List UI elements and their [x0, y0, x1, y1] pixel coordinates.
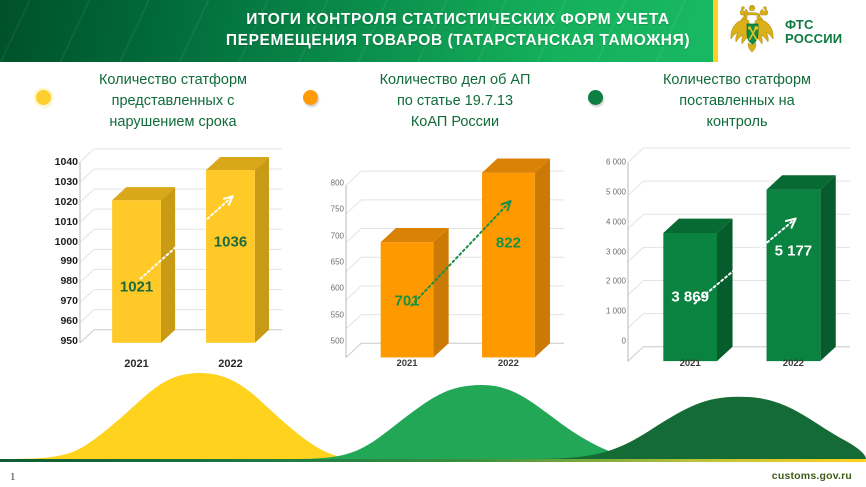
bar-2021: [381, 228, 449, 358]
bar-chart-statforms-late: 95096097098099010001010102010301040 1021…: [18, 158, 286, 386]
y-tick-label: 2 000: [606, 277, 626, 286]
bar-front: [112, 200, 161, 343]
y-tick-label: 600: [331, 284, 344, 293]
bar-chart-statforms-controlled: 01 0002 0003 0004 0005 0006 000 3 8695 1…: [582, 158, 854, 386]
grid-depth-line: [628, 247, 644, 261]
y-tick-label: 4 000: [606, 217, 626, 226]
grid-depth-line: [628, 280, 644, 294]
y-tick-label: 500: [331, 337, 344, 346]
bar-side: [161, 187, 175, 343]
grid-depth-line: [80, 269, 94, 282]
panel-title-2-line2: по статье 19.7.13: [340, 91, 570, 112]
grid-depth-line: [80, 189, 94, 202]
bar-side: [820, 175, 836, 361]
y-tick-label: 550: [331, 310, 344, 319]
grid-depth-line: [80, 249, 94, 262]
bar-front: [767, 190, 821, 361]
y-tick-label: 970: [60, 295, 78, 307]
y-tick-label: 1040: [55, 156, 78, 168]
panel-title-2-line1: Количество дел об АП: [340, 70, 570, 91]
y-tick-label: 1020: [55, 196, 78, 208]
panel-bullet-3: [588, 90, 603, 105]
grid-depth-line: [346, 286, 361, 300]
y-axis-labels-3: 01 0002 0003 0004 0005 0006 000: [582, 158, 626, 354]
wave-yellow: [0, 373, 370, 459]
y-tick-label: 0: [622, 337, 626, 346]
grid-depth-line: [346, 257, 361, 271]
grid-depth-line: [80, 169, 94, 182]
bar-2022: [482, 159, 550, 358]
bar-side: [433, 228, 448, 358]
y-tick-label: 1000: [55, 236, 78, 248]
plot-area-2: 701822: [346, 158, 564, 354]
panel-title-1-line3: нарушением срока: [58, 112, 288, 133]
bar-front: [663, 233, 717, 361]
y-tick-label: 990: [60, 255, 78, 267]
bar-front: [482, 173, 535, 358]
panel-title-1-line2: представленных с: [58, 91, 288, 112]
fts-logo: ФТС РОССИИ: [726, 4, 861, 60]
fts-logo-text: ФТС РОССИИ: [785, 18, 842, 46]
page-number: 1: [10, 471, 16, 483]
grid-depth-line: [346, 200, 361, 214]
panel-bullet-2: [303, 90, 318, 105]
panel-title-3-line3: контроль: [622, 112, 852, 133]
panel-title-3-line1: Количество статформ: [622, 70, 852, 91]
grid-depth-line: [80, 310, 94, 323]
banner-accent-stripe: [713, 0, 718, 62]
panel-title-2-line3: КоАП России: [340, 112, 570, 133]
y-tick-label: 950: [60, 335, 78, 347]
decorative-waves: [0, 367, 866, 459]
panel-title-1: Количество статформ представленных с нар…: [58, 70, 288, 133]
y-tick-label: 1010: [55, 216, 78, 228]
bar-side: [717, 219, 733, 362]
y-tick-label: 800: [331, 179, 344, 188]
panel-title-1-line1: Количество статформ: [58, 70, 288, 91]
y-tick-label: 3 000: [606, 247, 626, 256]
grid-depth-line: [628, 214, 644, 228]
grid-depth-line: [80, 209, 94, 222]
panel-bullet-1: [36, 90, 51, 105]
grid-depth-line: [346, 229, 361, 243]
y-axis-labels-2: 500550600650700750800: [300, 158, 344, 354]
bars-svg-2: [346, 158, 564, 372]
grid-depth-line: [80, 290, 94, 303]
page-title-line1: ИТОГИ КОНТРОЛЯ СТАТИСТИЧЕСКИХ ФОРМ УЧЕТА: [246, 11, 669, 28]
bar-2022: [206, 157, 269, 343]
y-tick-label: 6 000: [606, 158, 626, 167]
grid-depth-line: [628, 314, 644, 328]
bar-2022: [767, 175, 836, 361]
panel-title-3-line2: поставленных на: [622, 91, 852, 112]
footer-website: customs.gov.ru: [772, 470, 852, 482]
fts-logo-line1: ФТС: [785, 18, 842, 32]
panel-title-3: Количество статформ поставленных на конт…: [622, 70, 852, 133]
bar-side: [255, 157, 269, 343]
slide-root: ИТОГИ КОНТРОЛЯ СТАТИСТИЧЕСКИХ ФОРМ УЧЕТА…: [0, 0, 866, 487]
plot-area-3: 3 8695 177: [628, 158, 850, 354]
y-tick-label: 1 000: [606, 307, 626, 316]
plot-area-1: 10211036: [80, 158, 282, 354]
y-tick-label: 1030: [55, 176, 78, 188]
y-axis-labels-1: 95096097098099010001010102010301040: [26, 158, 78, 354]
y-tick-label: 5 000: [606, 187, 626, 196]
grid-depth-line: [346, 315, 361, 329]
y-tick-label: 750: [331, 205, 344, 214]
bar-side: [535, 159, 550, 358]
bar-2021: [663, 219, 732, 362]
bar-2021: [112, 187, 175, 343]
grid-depth-line: [80, 149, 94, 162]
fts-logo-line2: РОССИИ: [785, 32, 842, 46]
bars-svg-3: [628, 158, 850, 376]
y-tick-label: 650: [331, 258, 344, 267]
bars-svg-1: [80, 158, 282, 356]
y-tick-label: 980: [60, 275, 78, 287]
grid-depth-line: [628, 148, 644, 162]
grid-depth-line: [628, 181, 644, 195]
double-headed-eagle-icon: [726, 5, 778, 59]
wave-green: [290, 385, 672, 459]
grid-depth-line: [80, 229, 94, 242]
grid-depth-line: [346, 171, 361, 185]
y-tick-label: 700: [331, 231, 344, 240]
bar-front: [381, 242, 434, 357]
panel-title-2: Количество дел об АП по статье 19.7.13 К…: [340, 70, 570, 133]
bar-chart-admin-cases: 500550600650700750800 701822 20212022: [300, 158, 568, 386]
footer-divider: [0, 459, 866, 462]
y-tick-label: 960: [60, 315, 78, 327]
